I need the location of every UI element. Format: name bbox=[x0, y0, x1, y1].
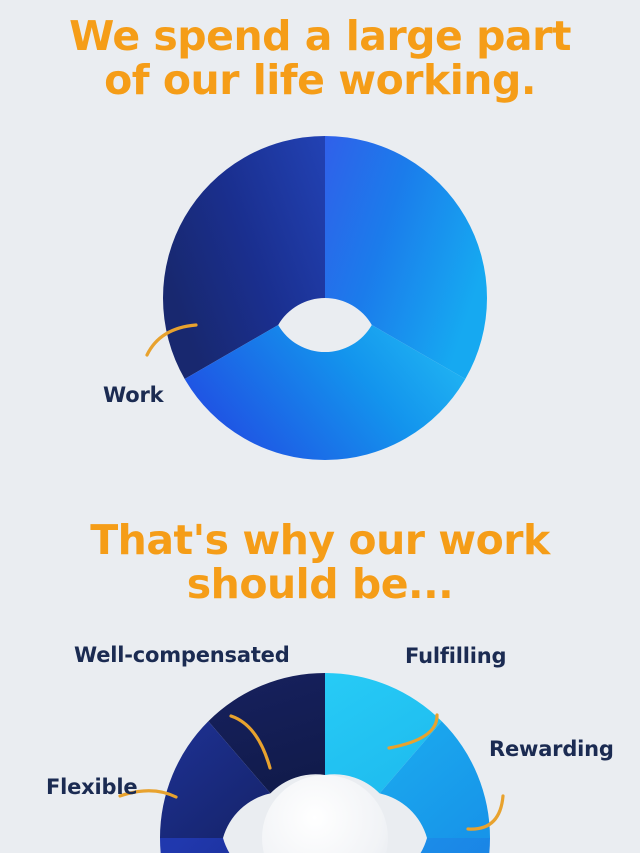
donut-chart-life-svg bbox=[0, 120, 640, 490]
donut-slice-2[interactable] bbox=[325, 136, 487, 379]
donut-slice-work[interactable] bbox=[163, 136, 325, 379]
heading-2-line-2: should be... bbox=[0, 562, 640, 606]
page-title-secondary: That's why our work should be... bbox=[0, 518, 640, 607]
donut-qualities-slices bbox=[160, 673, 490, 853]
callout-label-fulfilling: Fulfilling bbox=[405, 644, 506, 668]
heading-2-line-1: That's why our work bbox=[0, 518, 640, 562]
callout-label-work: Work bbox=[103, 383, 163, 407]
donut-qualities-hole bbox=[262, 775, 388, 853]
callout-label-flexible: Flexible bbox=[46, 775, 137, 799]
donut-slice-flexible[interactable] bbox=[160, 838, 270, 853]
donut-chart-life bbox=[0, 120, 640, 490]
page-title-primary: We spend a large part of our life workin… bbox=[0, 14, 640, 103]
heading-1-line-1: We spend a large part bbox=[0, 14, 640, 58]
callout-label-well-compensated: Well-compensated bbox=[74, 643, 290, 667]
heading-1-line-2: of our life working. bbox=[0, 58, 640, 102]
slide-canvas: We spend a large part of our life workin… bbox=[0, 0, 640, 853]
callout-label-rewarding: Rewarding bbox=[489, 737, 614, 761]
donut-slice-rewarding-2[interactable] bbox=[380, 838, 490, 853]
